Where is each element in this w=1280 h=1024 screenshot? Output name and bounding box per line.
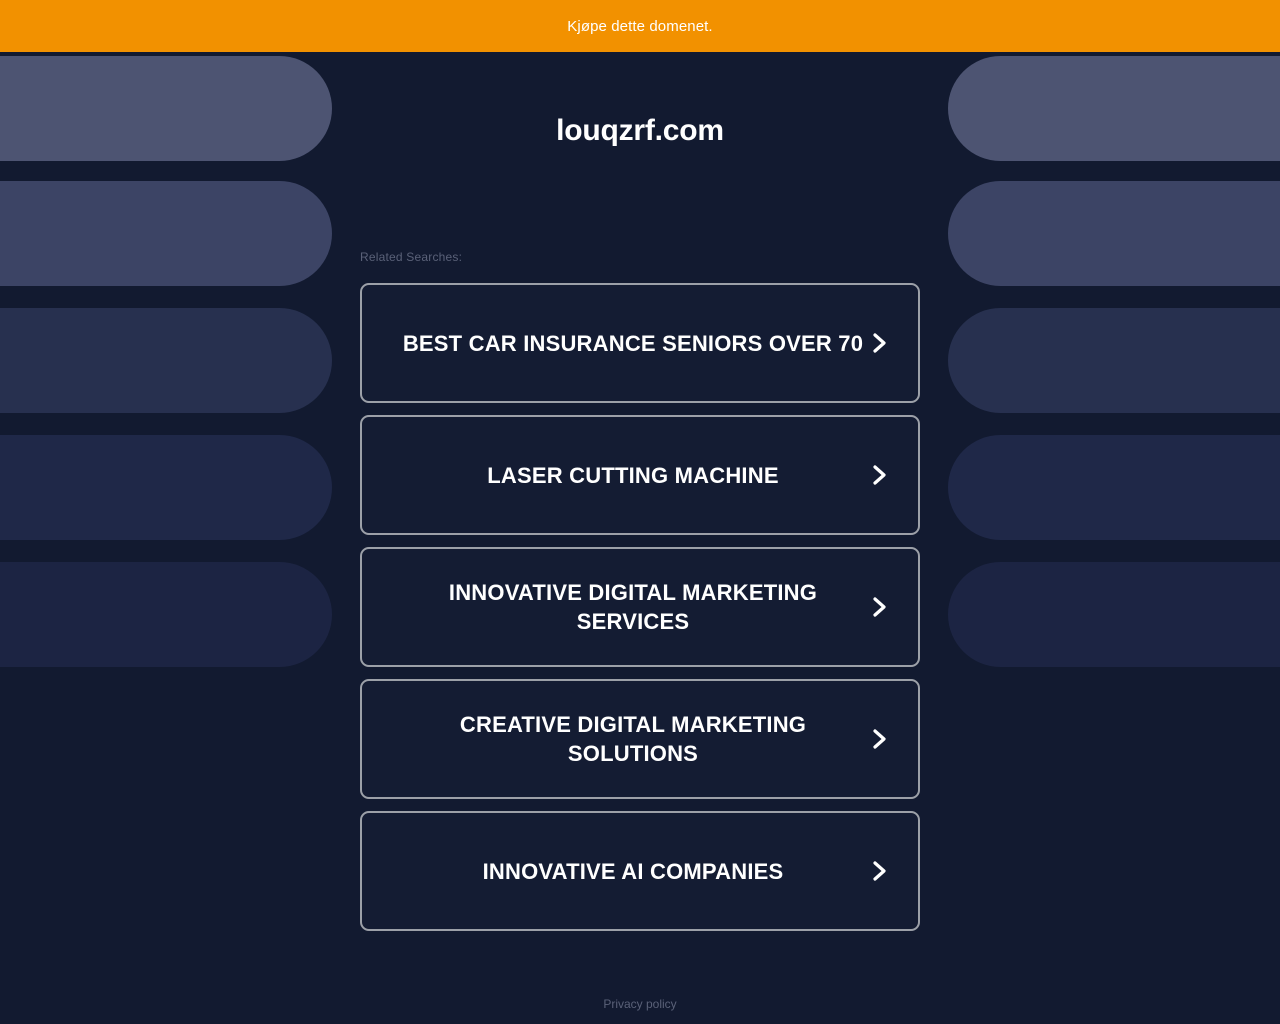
chevron-right-icon bbox=[868, 595, 892, 619]
related-search-item-1[interactable]: BEST CAR INSURANCE SENIORS OVER 70 bbox=[360, 283, 920, 403]
related-search-item-5[interactable]: INNOVATIVE AI COMPANIES bbox=[360, 811, 920, 931]
decorative-row bbox=[0, 181, 1280, 286]
chevron-right-icon bbox=[868, 727, 892, 751]
buy-domain-banner-text: Kjøpe dette domenet. bbox=[567, 18, 712, 35]
related-search-item-2[interactable]: LASER CUTTING MACHINE bbox=[360, 415, 920, 535]
decorative-bar-right-4 bbox=[948, 435, 1280, 540]
decorative-bar-right-5 bbox=[948, 562, 1280, 667]
page-title: louqzrf.com bbox=[0, 52, 1280, 148]
decorative-bar-left-2 bbox=[0, 181, 332, 286]
decorative-bar-left-4 bbox=[0, 435, 332, 540]
privacy-policy-link[interactable]: Privacy policy bbox=[603, 997, 676, 1011]
related-searches-label: Related Searches: bbox=[360, 250, 462, 264]
related-search-label: INNOVATIVE AI COMPANIES bbox=[362, 857, 918, 886]
page-body: louqzrf.com Related Searches: BEST CAR I… bbox=[0, 52, 1280, 1024]
decorative-bar-right-3 bbox=[948, 308, 1280, 413]
chevron-right-icon bbox=[868, 331, 892, 355]
footer: Privacy policy bbox=[0, 995, 1280, 1013]
decorative-bar-right-2 bbox=[948, 181, 1280, 286]
related-searches-list: BEST CAR INSURANCE SENIORS OVER 70 LASER… bbox=[360, 283, 920, 943]
related-search-item-4[interactable]: CREATIVE DIGITAL MARKETING SOLUTIONS bbox=[360, 679, 920, 799]
chevron-right-icon bbox=[868, 463, 892, 487]
decorative-bar-left-5 bbox=[0, 562, 332, 667]
related-search-label: LASER CUTTING MACHINE bbox=[362, 461, 918, 490]
chevron-right-icon bbox=[868, 859, 892, 883]
buy-domain-banner[interactable]: Kjøpe dette domenet. bbox=[0, 0, 1280, 52]
related-search-label: CREATIVE DIGITAL MARKETING SOLUTIONS bbox=[362, 710, 918, 768]
related-search-label: BEST CAR INSURANCE SENIORS OVER 70 bbox=[362, 329, 918, 358]
related-search-label: INNOVATIVE DIGITAL MARKETING SERVICES bbox=[362, 578, 918, 636]
related-search-item-3[interactable]: INNOVATIVE DIGITAL MARKETING SERVICES bbox=[360, 547, 920, 667]
decorative-bar-left-3 bbox=[0, 308, 332, 413]
